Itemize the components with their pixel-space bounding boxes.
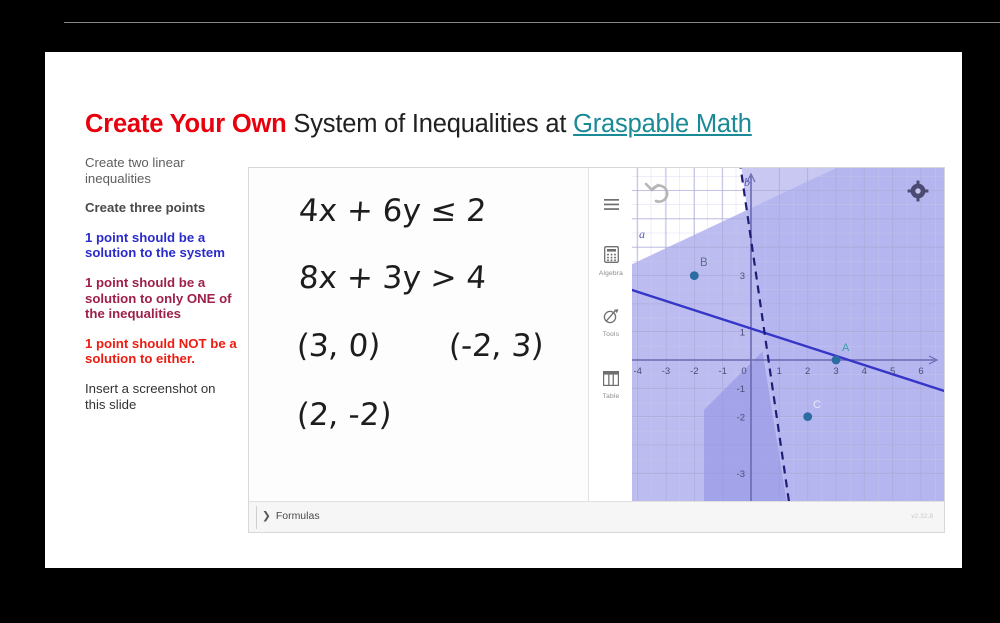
point-b-marker bbox=[690, 271, 699, 280]
svg-text:6: 6 bbox=[918, 366, 923, 377]
point-c-marker bbox=[803, 412, 812, 421]
tool-rail: Algebra Tools bbox=[588, 168, 634, 502]
graph-panel[interactable]: a b -4 -3 -2 -1 0 1 2 3 bbox=[632, 168, 944, 502]
svg-text:-1: -1 bbox=[737, 384, 745, 395]
table-label: Table bbox=[589, 393, 633, 400]
svg-text:-2: -2 bbox=[690, 366, 698, 377]
svg-text:-3: -3 bbox=[662, 366, 670, 377]
svg-text:4: 4 bbox=[862, 366, 867, 377]
inequality-graph[interactable]: a b -4 -3 -2 -1 0 1 2 3 bbox=[632, 168, 944, 502]
graspable-math-app: 4x + 6y ≤ 2 8x + 3y > 4 (3, 0) (-2, 3) (… bbox=[248, 167, 945, 533]
tools-label: Tools bbox=[589, 331, 633, 338]
instruction-item: Insert a screenshot on this slide bbox=[85, 381, 237, 412]
calculator-icon bbox=[589, 246, 633, 267]
svg-text:0: 0 bbox=[741, 366, 746, 377]
bottom-bar-divider bbox=[256, 506, 257, 529]
chevron-right-icon: ❯ bbox=[262, 510, 271, 522]
line-b-label: b bbox=[744, 175, 750, 189]
formulas-toggle[interactable]: ❯Formulas bbox=[262, 510, 320, 522]
formulas-label: Formulas bbox=[276, 510, 320, 522]
top-divider-rule bbox=[64, 22, 1000, 23]
point-a-expression[interactable]: (3, 0) bbox=[296, 328, 382, 364]
tools-button[interactable]: Tools bbox=[589, 308, 633, 338]
svg-text:3: 3 bbox=[740, 271, 745, 282]
table-button[interactable]: Table bbox=[589, 371, 633, 400]
inequality-1[interactable]: 4x + 6y ≤ 2 bbox=[298, 193, 488, 229]
tools-icon bbox=[589, 308, 633, 328]
point-a-marker bbox=[832, 356, 841, 365]
hamburger-menu-icon bbox=[589, 198, 633, 214]
point-a-label: A bbox=[842, 342, 850, 354]
hamburger-menu-button[interactable] bbox=[589, 198, 633, 214]
algebra-tool-label: Algebra bbox=[589, 270, 633, 277]
graspable-math-link[interactable]: Graspable Math bbox=[573, 110, 752, 138]
svg-text:-4: -4 bbox=[633, 366, 641, 377]
svg-text:-3: -3 bbox=[737, 469, 745, 480]
app-bottom-bar: ❯Formulas v2.32.8 bbox=[249, 501, 944, 532]
table-icon bbox=[589, 371, 633, 390]
point-b-label: B bbox=[700, 257, 708, 269]
svg-text:2: 2 bbox=[805, 366, 810, 377]
instruction-item: 1 point should be a solution to the syst… bbox=[85, 230, 237, 261]
screen-background: Create Your Own System of Inequalities a… bbox=[0, 0, 1000, 623]
svg-text:-1: -1 bbox=[718, 366, 726, 377]
svg-text:-2: -2 bbox=[737, 412, 745, 423]
instruction-item: Create two linear inequalities bbox=[85, 155, 237, 186]
point-c-label: C bbox=[813, 399, 821, 411]
instruction-item: Create three points bbox=[85, 200, 237, 216]
instruction-item: 1 point should NOT be a solution to eith… bbox=[85, 336, 237, 367]
svg-text:5: 5 bbox=[890, 366, 895, 377]
line-a-label: a bbox=[639, 227, 645, 241]
point-b-expression[interactable]: (-2, 3) bbox=[448, 328, 545, 364]
svg-text:1: 1 bbox=[740, 328, 745, 339]
title-emphasis: Create Your Own bbox=[85, 110, 287, 138]
title-middle: System of Inequalities at bbox=[287, 110, 574, 138]
presentation-slide: Create Your Own System of Inequalities a… bbox=[45, 52, 962, 568]
expression-canvas[interactable]: 4x + 6y ≤ 2 8x + 3y > 4 (3, 0) (-2, 3) (… bbox=[249, 168, 588, 502]
inequality-2[interactable]: 8x + 3y > 4 bbox=[298, 260, 488, 296]
instructions-list: Create two linear inequalities Create th… bbox=[85, 155, 237, 426]
svg-text:1: 1 bbox=[777, 366, 782, 377]
instruction-item: 1 point should be a solution to only ONE… bbox=[85, 275, 237, 322]
svg-text:3: 3 bbox=[833, 366, 838, 377]
version-label: v2.32.8 bbox=[911, 513, 933, 520]
page-title: Create Your Own System of Inequalities a… bbox=[85, 110, 955, 139]
point-c-expression[interactable]: (2, -2) bbox=[296, 397, 393, 433]
algebra-tool-button[interactable]: Algebra bbox=[589, 246, 633, 277]
